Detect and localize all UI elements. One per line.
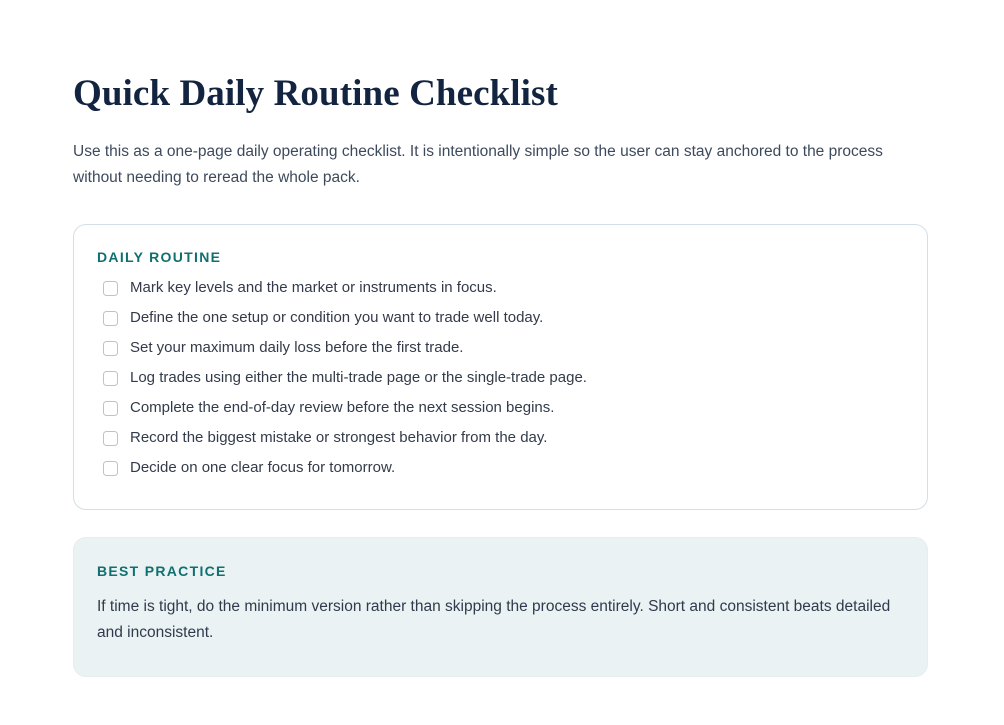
- checklist-item-label: Set your maximum daily loss before the f…: [130, 338, 463, 358]
- checkbox-icon[interactable]: [103, 461, 118, 476]
- checkbox-icon[interactable]: [103, 401, 118, 416]
- checklist-item-label: Decide on one clear focus for tomorrow.: [130, 458, 395, 478]
- best-practice-card: BEST PRACTICE If time is tight, do the m…: [73, 537, 928, 677]
- best-practice-heading: BEST PRACTICE: [97, 562, 901, 582]
- checklist-item[interactable]: Record the biggest mistake or strongest …: [97, 423, 901, 453]
- checklist-item[interactable]: Decide on one clear focus for tomorrow.: [97, 453, 901, 483]
- checklist-page: Quick Daily Routine Checklist Use this a…: [0, 0, 1004, 725]
- daily-routine-heading: DAILY ROUTINE: [97, 248, 901, 268]
- daily-routine-checklist: Mark key levels and the market or instru…: [97, 273, 901, 483]
- checkbox-icon[interactable]: [103, 341, 118, 356]
- page-intro-text: Use this as a one-page daily operating c…: [73, 116, 921, 191]
- checklist-item-label: Complete the end-of-day review before th…: [130, 398, 554, 418]
- checkbox-icon[interactable]: [103, 311, 118, 326]
- daily-routine-card: DAILY ROUTINE Mark key levels and the ma…: [73, 224, 928, 511]
- page-title: Quick Daily Routine Checklist: [73, 0, 929, 116]
- checkbox-icon[interactable]: [103, 431, 118, 446]
- checklist-item[interactable]: Set your maximum daily loss before the f…: [97, 333, 901, 363]
- checklist-item[interactable]: Mark key levels and the market or instru…: [97, 273, 901, 303]
- checklist-item-label: Log trades using either the multi-trade …: [130, 368, 587, 388]
- checklist-item-label: Record the biggest mistake or strongest …: [130, 428, 547, 448]
- checkbox-icon[interactable]: [103, 371, 118, 386]
- checklist-item[interactable]: Define the one setup or condition you wa…: [97, 303, 901, 333]
- checkbox-icon[interactable]: [103, 281, 118, 296]
- checklist-item[interactable]: Log trades using either the multi-trade …: [97, 363, 901, 393]
- checklist-item-label: Mark key levels and the market or instru…: [130, 278, 497, 298]
- checklist-item-label: Define the one setup or condition you wa…: [130, 308, 543, 328]
- content-column: Quick Daily Routine Checklist Use this a…: [73, 0, 929, 677]
- best-practice-body: If time is tight, do the minimum version…: [97, 594, 901, 646]
- checklist-item[interactable]: Complete the end-of-day review before th…: [97, 393, 901, 423]
